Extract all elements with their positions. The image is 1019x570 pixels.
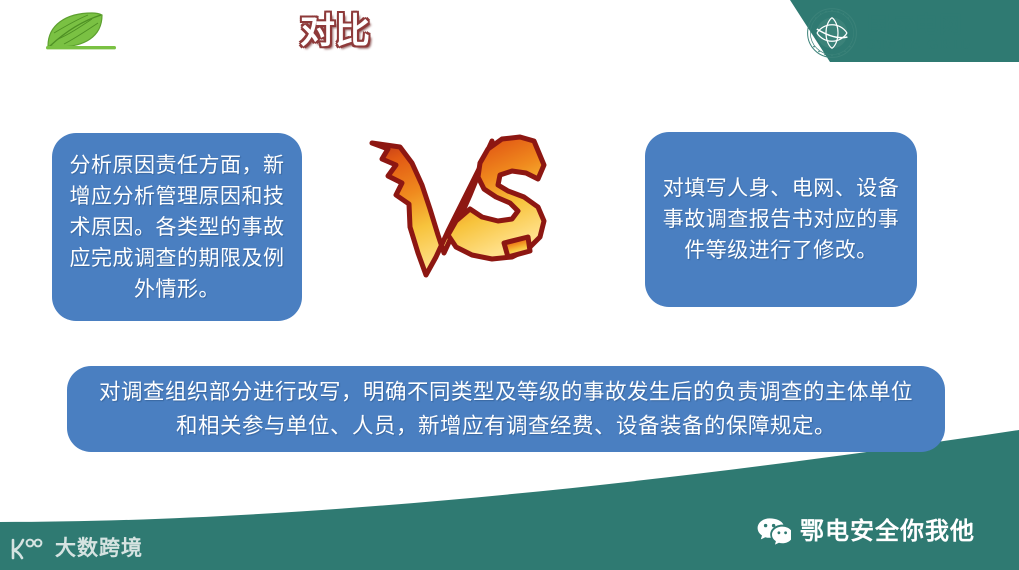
content-box-right-text: 对填写人身、电网、设备事故调查报告书对应的事件等级进行了修改。 [661,173,901,266]
k-infinity-logo-icon [8,536,48,562]
brand-name-cn: 国家电网 [867,12,972,37]
content-box-bottom: 对调查组织部分进行改写，明确不同类型及等级的事故发生后的负责调查的主体单位和相关… [67,366,945,452]
page-title: 事故调查 [120,7,276,53]
wechat-account: 鄂电安全你我他 [757,515,975,549]
wechat-icon [757,517,791,547]
content-box-left-text: 分析原因责任方面，新增应分析管理原因和技术原因。各类型的事故应完成调查的期限及例… [68,150,286,305]
brand-name-en: STATE GRID [867,37,972,54]
versus-flame-icon [352,103,582,315]
content-box-right: 对填写人身、电网、设备事故调查报告书对应的事件等级进行了修改。 [645,132,917,307]
content-box-left: 分析原因责任方面，新增应分析管理原因和技术原因。各类型的事故应完成调查的期限及例… [52,133,302,321]
watermark-label: 大数跨境 [55,536,143,562]
content-box-bottom-text: 对调查组织部分进行改写，明确不同类型及等级的事故发生后的负责调查的主体单位和相关… [89,375,923,443]
wechat-label: 鄂电安全你我他 [800,517,975,547]
state-grid-logo: 国家电网 STATE GRID [806,7,1011,59]
leaf-icon [36,9,118,55]
state-grid-emblem-icon [806,7,858,59]
slide-canvas: 事故调查 对比 国家电网 STATE GRID [0,0,1019,570]
watermark: 大数跨境 [8,534,143,564]
page-subtitle: 对比 [300,9,370,55]
